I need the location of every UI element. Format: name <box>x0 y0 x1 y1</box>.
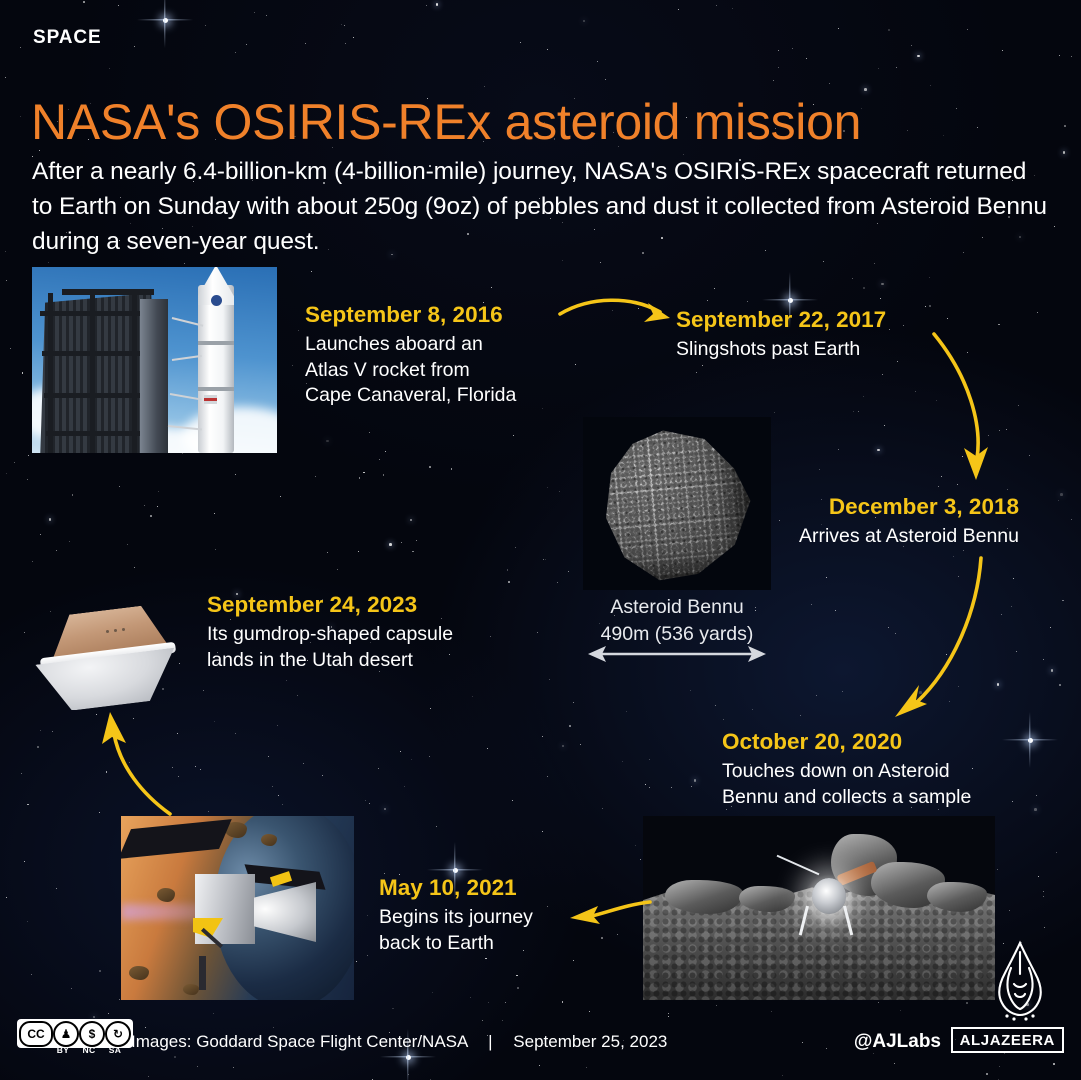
standfirst-paragraph: After a nearly 6.4-billion-km (4-billion… <box>32 154 1052 259</box>
creative-commons-license: CC ♟ $ ↻ BY NC SA <box>17 1019 115 1057</box>
event-earth-slingshot: September 22, 2017 Slingshots past Earth <box>676 305 886 363</box>
event-description: Begins its journey back to Earth <box>379 905 533 956</box>
arrow-launch-to-slingshot <box>556 290 680 336</box>
arrow-arrival-to-touchdown <box>855 552 995 722</box>
cc-by-icon: ♟ <box>53 1021 79 1047</box>
event-date: May 10, 2021 <box>379 873 533 903</box>
arrow-touchdown-to-return <box>568 896 654 930</box>
arrow-return-to-capsule <box>82 702 192 820</box>
infographic-canvas: SPACE NASA's OSIRIS-REx asteroid mission… <box>0 0 1081 1080</box>
asteroid-bennu-image <box>583 417 771 590</box>
social-handle: @AJLabs <box>854 1031 941 1053</box>
event-description: Touches down on Asteroid Bennu and colle… <box>722 759 971 810</box>
event-description: Its gumdrop-shaped capsule lands in the … <box>207 622 453 673</box>
event-launch: September 8, 2016 Launches aboard an Atl… <box>305 300 516 409</box>
event-description: Launches aboard an Atlas V rocket from C… <box>305 332 516 409</box>
footer-separator: | <box>472 1032 508 1052</box>
image-credit: Images: Goddard Space Flight Center/NASA <box>131 1032 467 1051</box>
event-date: September 8, 2016 <box>305 300 516 330</box>
cc-label-by: BY <box>50 1045 76 1055</box>
footer-credit-line: Images: Goddard Space Flight Center/NASA… <box>131 1032 667 1052</box>
event-date: September 22, 2017 <box>676 305 886 335</box>
al-jazeera-wordmark: ALJAZEERA <box>951 1027 1064 1053</box>
cc-label-nc: NC <box>76 1045 102 1055</box>
osiris-rex-spacecraft-image <box>121 816 354 1000</box>
bennu-size: 490m (536 yards) <box>524 621 830 648</box>
section-kicker: SPACE <box>33 27 102 49</box>
event-touchdown: October 20, 2020 Touches down on Asteroi… <box>722 727 971 810</box>
cc-icon: CC <box>19 1021 53 1047</box>
event-date: September 24, 2023 <box>207 590 453 620</box>
event-description: Slingshots past Earth <box>676 337 886 363</box>
cc-sa-icon: ↻ <box>105 1021 131 1047</box>
sample-return-capsule-image <box>30 588 195 710</box>
touchdown-image <box>643 816 995 1000</box>
cc-label-sa: SA <box>102 1045 128 1055</box>
bennu-name: Asteroid Bennu <box>524 594 830 621</box>
bennu-caption: Asteroid Bennu 490m (536 yards) <box>524 594 830 648</box>
event-date: October 20, 2020 <box>722 727 971 757</box>
event-capsule-landing: September 24, 2023 Its gumdrop-shaped ca… <box>207 590 453 673</box>
event-arrival: December 3, 2018 Arrives at Asteroid Ben… <box>799 492 1019 550</box>
publish-date: September 25, 2023 <box>513 1032 667 1051</box>
event-return-journey: May 10, 2021 Begins its journey back to … <box>379 873 533 956</box>
bennu-scale-arrow <box>588 646 766 662</box>
event-date: December 3, 2018 <box>799 492 1019 522</box>
cc-license-labels: BY NC SA <box>20 1045 128 1055</box>
event-description: Arrives at Asteroid Bennu <box>799 524 1019 550</box>
cc-nc-icon: $ <box>79 1021 105 1047</box>
page-title: NASA's OSIRIS-REx asteroid mission <box>31 93 861 151</box>
al-jazeera-logo-icon <box>981 940 1059 1022</box>
rocket-launch-image <box>32 267 277 453</box>
arrow-slingshot-to-arrival <box>926 330 1006 490</box>
